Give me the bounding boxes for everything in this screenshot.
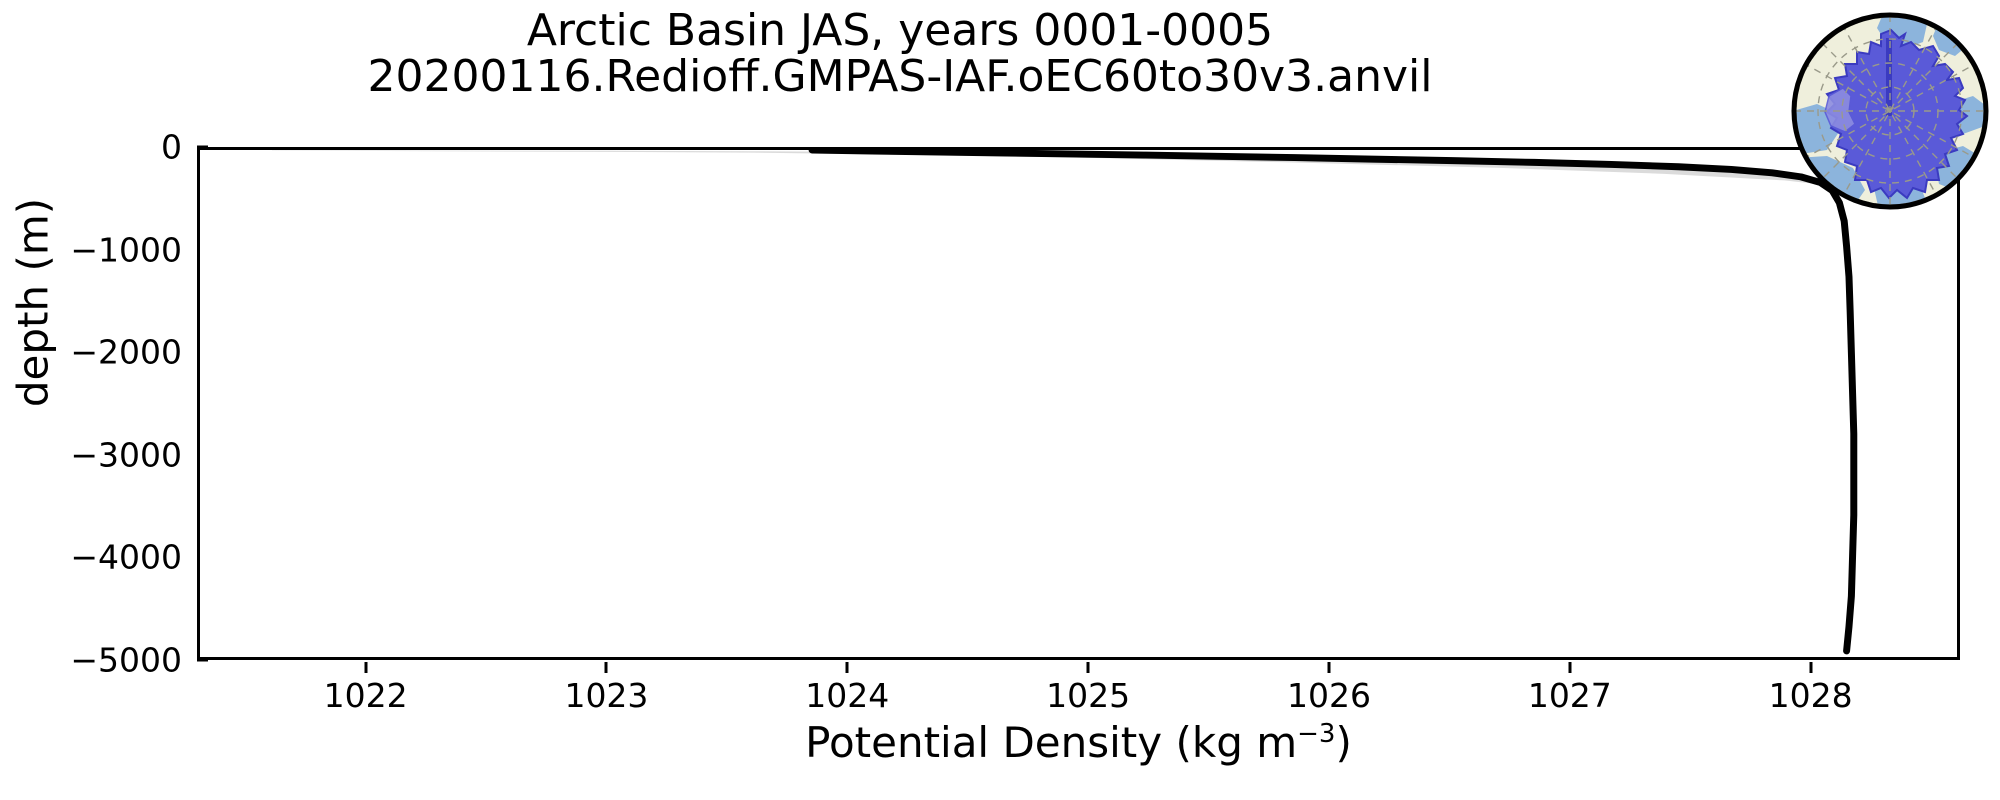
x-axis-label-close: ) — [1336, 718, 1352, 767]
x-tick-label: 1026 — [1287, 676, 1371, 715]
x-tick-mark — [1809, 662, 1812, 673]
x-tick-label: 1027 — [1528, 676, 1612, 715]
x-tick-mark — [1087, 662, 1090, 673]
x-tick-label: 1023 — [564, 676, 648, 715]
x-tick-mark — [846, 662, 849, 673]
chart-subtitle: 20200116.Redioff.GMPAS-IAF.oEC60to30v3.a… — [0, 54, 1800, 100]
plot-area — [197, 147, 1960, 660]
y-tick-label: −3000 — [70, 435, 182, 474]
globe-icon — [1787, 8, 1993, 214]
x-axis-label-exponent: −3 — [1297, 719, 1335, 749]
plot-svg — [200, 150, 1957, 657]
y-axis-label: depth (m) — [9, 138, 58, 468]
figure-canvas: Arctic Basin JAS, years 0001-0005 202001… — [0, 0, 2000, 800]
chart-title-block: Arctic Basin JAS, years 0001-0005 202001… — [0, 8, 1800, 100]
x-tick-label: 1024 — [805, 676, 889, 715]
y-tick-label: −5000 — [70, 641, 182, 680]
x-tick-label: 1025 — [1046, 676, 1130, 715]
chart-title: Arctic Basin JAS, years 0001-0005 — [0, 8, 1800, 54]
x-tick-label: 1022 — [324, 676, 408, 715]
x-tick-mark — [364, 662, 367, 673]
x-tick-label: 1028 — [1769, 676, 1853, 715]
x-axis-label: Potential Density (kg m−3) — [197, 718, 1960, 767]
arctic-region-globe-inset — [1787, 8, 1993, 214]
x-axis-tick-labels: 1022 1023 1024 1025 1026 1027 1028 — [197, 662, 1960, 722]
y-tick-label: −4000 — [70, 538, 182, 577]
x-tick-mark — [1327, 662, 1330, 673]
y-tick-label: −1000 — [70, 230, 182, 269]
y-tick-label: 0 — [161, 128, 182, 167]
density-profile-line — [812, 150, 1854, 651]
y-tick-label: −2000 — [70, 333, 182, 372]
x-tick-mark — [1568, 662, 1571, 673]
x-tick-mark — [605, 662, 608, 673]
x-axis-label-text: Potential Density (kg m — [805, 718, 1297, 767]
